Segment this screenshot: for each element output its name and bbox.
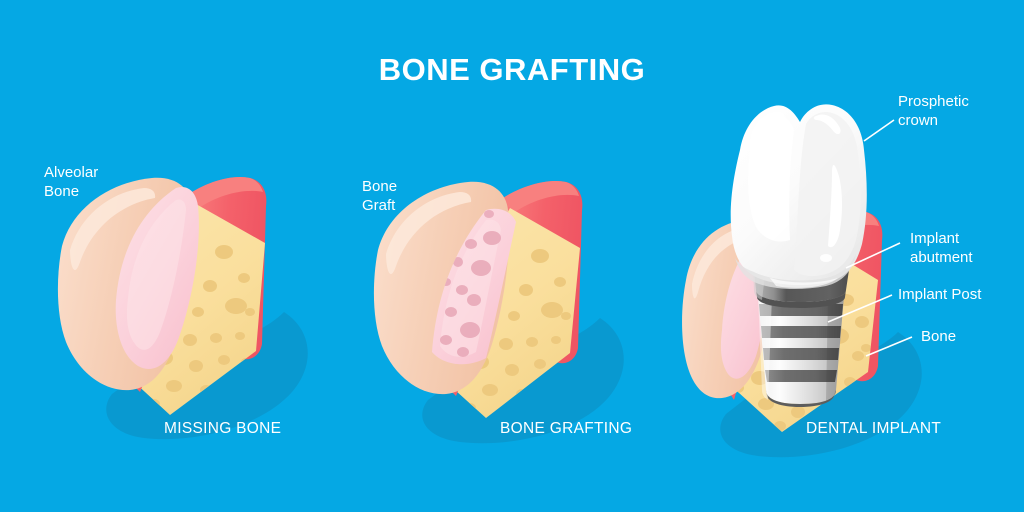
label-bone: Bone bbox=[921, 327, 956, 346]
label-prosthetic-crown: Prosphetic crown bbox=[898, 92, 969, 130]
label-implant-abutment: Implant abutment bbox=[910, 229, 973, 267]
caption-bone-grafting: BONE GRAFTING bbox=[500, 420, 632, 438]
page-title: BONE GRAFTING bbox=[0, 52, 1024, 88]
infographic-page: BONE GRAFTING Alveolar Bone Bone Graft P… bbox=[0, 0, 1024, 512]
caption-missing-bone: MISSING BONE bbox=[164, 420, 281, 438]
abutment-glint bbox=[820, 254, 832, 262]
implant-post bbox=[758, 296, 844, 407]
leader-prosthetic-crown bbox=[864, 120, 894, 141]
prosthetic-crown bbox=[731, 104, 867, 289]
label-bone-graft: Bone Graft bbox=[362, 177, 397, 215]
label-alveolar-bone: Alveolar Bone bbox=[44, 163, 98, 201]
label-implant-post: Implant Post bbox=[898, 285, 981, 304]
caption-dental-implant: DENTAL IMPLANT bbox=[806, 420, 941, 438]
